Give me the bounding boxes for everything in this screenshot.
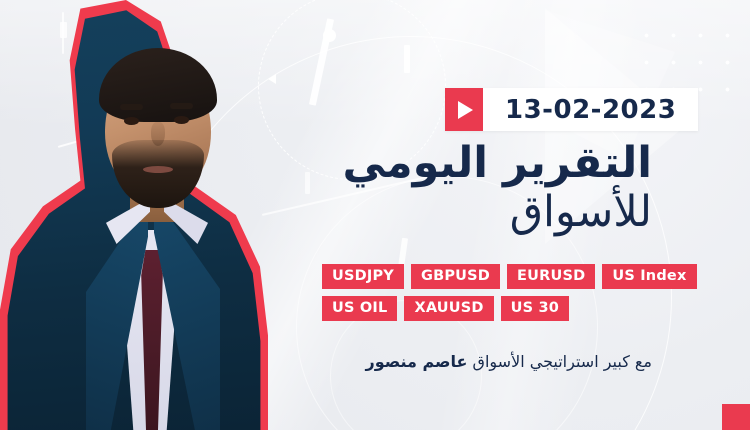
- byline-name: عاصم منصور: [365, 352, 467, 371]
- presenter-eye-left: [124, 117, 139, 125]
- instrument-badge[interactable]: US OIL: [322, 296, 397, 321]
- daily-market-report-banner: 13-02-2023 التقرير اليومي للأسواق USDJPY…: [0, 0, 750, 430]
- byline: مع كبير استراتيجي الأسواق عاصم منصور: [365, 352, 652, 371]
- play-icon: [458, 101, 473, 119]
- candlestick-icon: [404, 45, 410, 73]
- candlestick-icon: [309, 18, 334, 106]
- candlestick-icon: [305, 172, 310, 194]
- instrument-badge-row-2: US OIL XAUUSD US 30: [322, 296, 569, 321]
- page-title: التقرير اليومي للأسواق: [342, 142, 652, 234]
- instrument-badge-list: USDJPY GBPUSD EURUSD US Index US OIL XAU…: [322, 264, 652, 321]
- date-text: 13-02-2023: [505, 95, 676, 125]
- instrument-badge[interactable]: US Index: [602, 264, 696, 289]
- instrument-badge[interactable]: EURUSD: [507, 264, 595, 289]
- marker-dot-icon: [323, 29, 336, 42]
- headline-line-1: التقرير اليومي: [342, 142, 652, 185]
- instrument-badge[interactable]: US 30: [501, 296, 569, 321]
- instrument-badge[interactable]: USDJPY: [322, 264, 404, 289]
- presenter-eyebrow-left: [120, 104, 143, 110]
- presenter-mouth: [143, 166, 173, 173]
- headline-line-2: للأسواق: [342, 191, 652, 234]
- red-corner-square: [722, 404, 750, 430]
- instrument-badge[interactable]: GBPUSD: [411, 264, 500, 289]
- instrument-badge[interactable]: XAUUSD: [404, 296, 493, 321]
- presenter-eyebrow-right: [170, 103, 193, 109]
- byline-prefix: مع كبير استراتيجي الأسواق: [473, 352, 652, 371]
- date-box: 13-02-2023: [483, 88, 698, 131]
- presenter-eye-right: [174, 116, 189, 124]
- instrument-badge-row-1: USDJPY GBPUSD EURUSD US Index: [322, 264, 697, 289]
- presenter-photo: [0, 0, 304, 430]
- play-button[interactable]: [445, 88, 483, 131]
- date-badge: 13-02-2023: [445, 88, 698, 131]
